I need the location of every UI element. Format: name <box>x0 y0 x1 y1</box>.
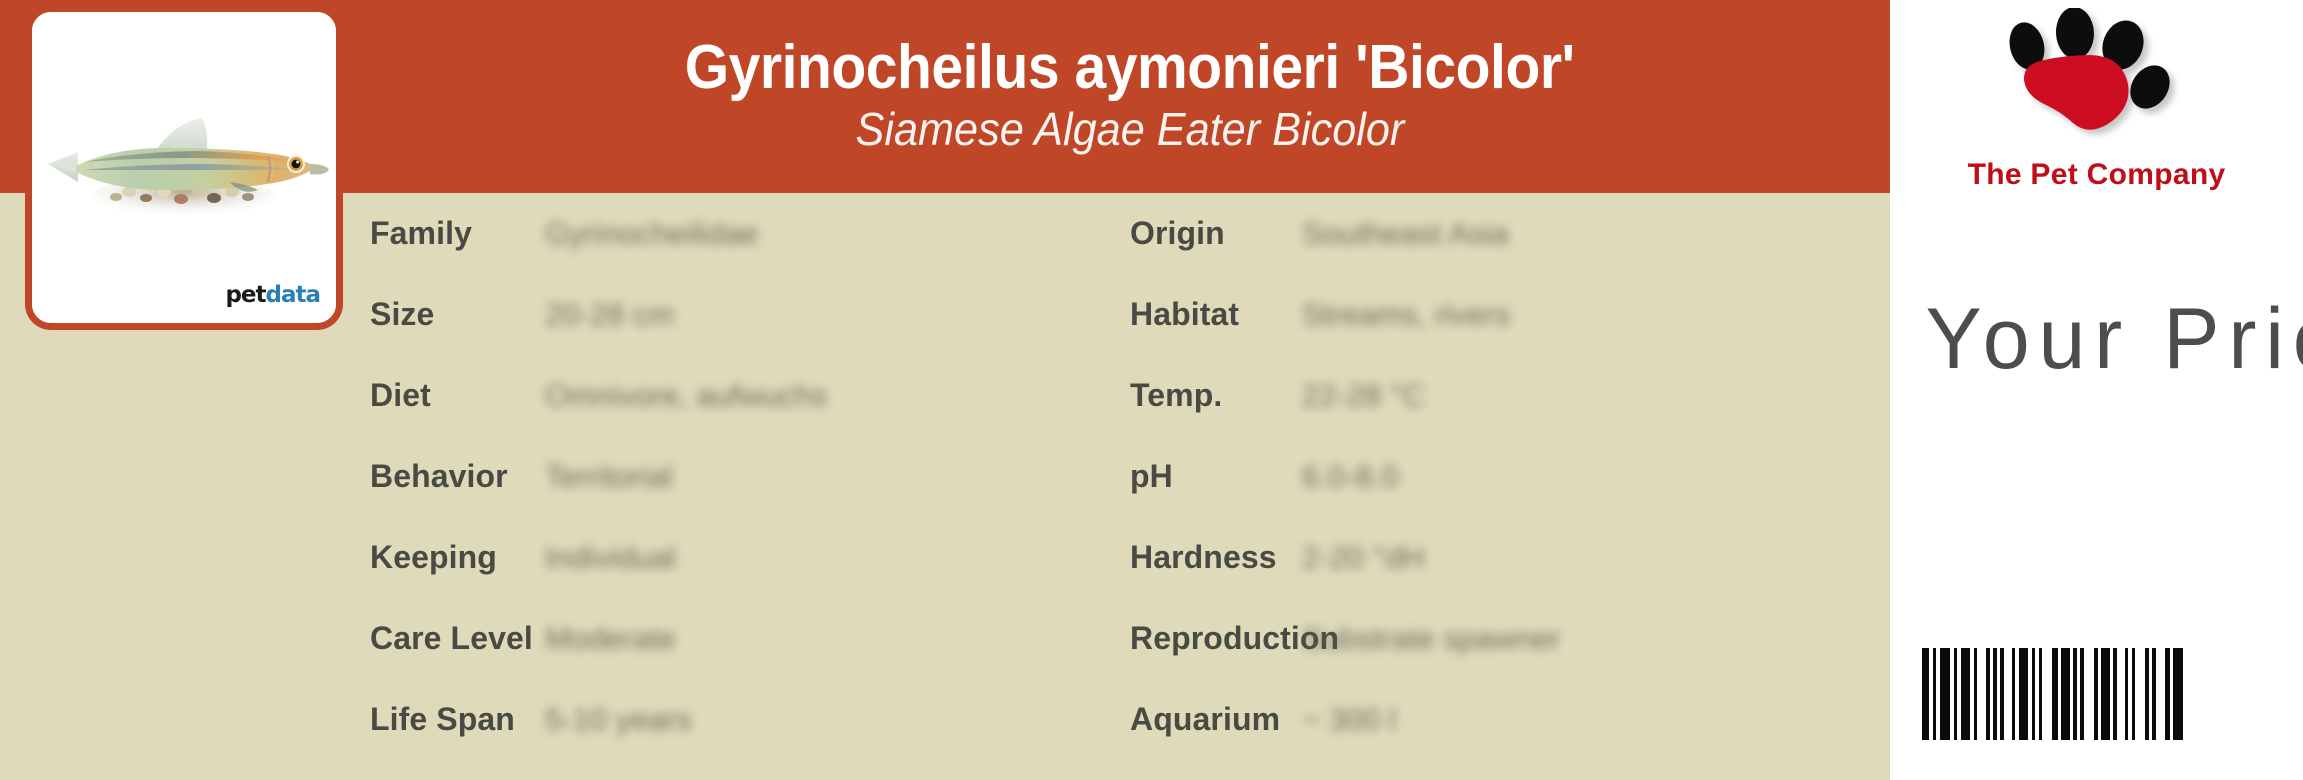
barcode-space <box>2156 648 2165 740</box>
spec-value-aquarium: ~ 300 l <box>1302 702 1396 738</box>
barcode-space <box>2084 648 2094 740</box>
pet-label-card: Gyrinocheilus aymonieri 'Bicolor' Siames… <box>0 0 2303 780</box>
spec-label-temp: Temp. <box>1130 377 1302 414</box>
spec-label-reproduction: Reproduction <box>1130 620 1302 657</box>
barcode-bar <box>2173 648 2183 740</box>
spec-label-size: Size <box>370 296 545 333</box>
watermark-pet: pet <box>225 282 265 308</box>
spec-row: Diet Omnivore, aufwuchs <box>370 355 1110 436</box>
spec-column-left: Family Gyrinocheilidae Size 20-28 cm Die… <box>370 193 1110 760</box>
spec-row: Temp. 22-28 °C <box>1130 355 1870 436</box>
brand-name: The Pet Company <box>1890 158 2303 192</box>
barcode-bar <box>2061 648 2070 740</box>
barcode-bar <box>1940 648 1950 740</box>
barcode-bar <box>2101 648 2110 740</box>
spec-label-life-span: Life Span <box>370 701 545 738</box>
spec-row: Habitat Streams, rivers <box>1130 274 1870 355</box>
spec-label-aquarium: Aquarium <box>1130 701 1302 738</box>
spec-value-habitat: Streams, rivers <box>1302 297 1510 333</box>
spec-row: Family Gyrinocheilidae <box>370 193 1110 274</box>
fish-illustration <box>34 104 334 234</box>
spec-row: Life Span 5-10 years <box>370 679 1110 760</box>
spec-label-hardness: Hardness <box>1130 539 1302 576</box>
paw-print-icon <box>1890 8 2303 148</box>
title-text-wrap: Gyrinocheilus aymonieri 'Bicolor' Siames… <box>370 0 1890 193</box>
spec-value-size: 20-28 cm <box>545 297 674 333</box>
fish-photo <box>32 12 336 323</box>
spec-row: Size 20-28 cm <box>370 274 1110 355</box>
barcode-bar <box>1961 648 1970 740</box>
spec-value-temp: 22-28 °C <box>1302 378 1425 414</box>
spec-row: Reproduction Substrate spawner <box>1130 598 1870 679</box>
info-panel: Gyrinocheilus aymonieri 'Bicolor' Siames… <box>0 0 1890 780</box>
spec-column-right: Origin Southeast Asia Habitat Streams, r… <box>1130 193 1870 760</box>
your-price-label: Your Price <box>1894 290 2299 389</box>
spec-label-care-level: Care Level <box>370 620 545 657</box>
spec-value-family: Gyrinocheilidae <box>545 216 759 252</box>
spec-row: Origin Southeast Asia <box>1130 193 1870 274</box>
barcode-space <box>2117 648 2125 740</box>
spec-label-family: Family <box>370 215 545 252</box>
brand-logo: The Pet Company <box>1890 8 2303 200</box>
spec-label-habitat: Habitat <box>1130 296 1302 333</box>
spec-label-diet: Diet <box>370 377 545 414</box>
watermark-data: data <box>266 282 321 308</box>
barcode-bar <box>1922 648 1929 740</box>
spec-value-keeping: Individual <box>545 540 676 576</box>
price-panel: The Pet Company Your Price <box>1890 0 2303 780</box>
barcode <box>1922 648 2183 740</box>
barcode-bar <box>2019 648 2028 740</box>
spec-value-behavior: Territorial <box>545 459 672 495</box>
spec-row: Keeping Individual <box>370 517 1110 598</box>
spec-label-origin: Origin <box>1130 215 1302 252</box>
spec-label-behavior: Behavior <box>370 458 545 495</box>
spec-value-origin: Southeast Asia <box>1302 216 1509 252</box>
barcode-space <box>2004 648 2012 740</box>
fish-photo-frame: petdata <box>25 5 343 330</box>
spec-label-ph: pH <box>1130 458 1302 495</box>
barcode-space <box>2135 648 2145 740</box>
scientific-name: Gyrinocheilus aymonieri 'Bicolor' <box>685 36 1575 99</box>
spec-row: Aquarium ~ 300 l <box>1130 679 1870 760</box>
spec-value-care-level: Moderate <box>545 621 676 657</box>
spec-value-reproduction: Substrate spawner <box>1302 621 1560 657</box>
barcode-space <box>1977 648 1986 740</box>
spec-row: Care Level Moderate <box>370 598 1110 679</box>
spec-value-ph: 6.0-8.0 <box>1302 459 1399 495</box>
spec-row: Hardness 2-20 °dH <box>1130 517 1870 598</box>
common-name: Siamese Algae Eater Bicolor <box>856 105 1405 153</box>
paw-icon-svg <box>1982 8 2212 148</box>
spec-value-hardness: 2-20 °dH <box>1302 540 1425 576</box>
spec-row: Behavior Territorial <box>370 436 1110 517</box>
spec-label-keeping: Keeping <box>370 539 545 576</box>
spec-row: pH 6.0-8.0 <box>1130 436 1870 517</box>
spec-value-life-span: 5-10 years <box>545 702 691 738</box>
petdata-watermark: petdata <box>225 284 320 307</box>
barcode-space <box>2042 648 2052 740</box>
spec-value-diet: Omnivore, aufwuchs <box>545 378 828 414</box>
